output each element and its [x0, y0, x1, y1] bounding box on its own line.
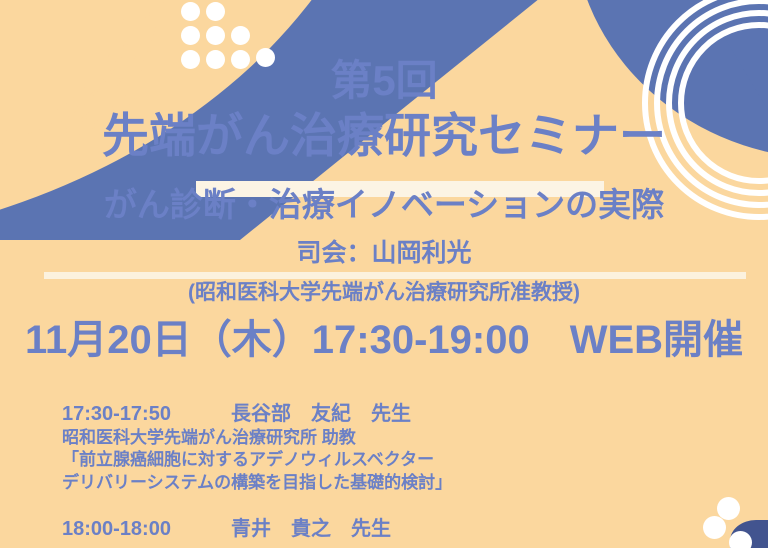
poster-content: 第5回 先端がん治療研究セミナー がん診断・治療イノベーションの実際 司会：山岡… [0, 0, 768, 548]
program-item-header: 17:30-17:50 長谷部 友紀 先生 [62, 402, 722, 427]
divider [44, 272, 746, 279]
moderator-affiliation: (昭和医科大学先端がん治療研究所准教授) [0, 282, 768, 303]
program-item-title-line-1: 「前立腺癌細胞に対するアデノウィルスベクター [62, 449, 722, 472]
program-spacer [62, 499, 722, 517]
moderator-name: 司会：山岡利光 [0, 241, 768, 266]
seminar-poster: 第5回 先端がん治療研究セミナー がん診断・治療イノベーションの実際 司会：山岡… [0, 0, 768, 548]
program-item-title-line-2: デリバリーシステムの構築を目指した基礎的検討」 [62, 472, 722, 495]
program-item: 17:30-17:50 長谷部 友紀 先生 昭和医科大学先端がん治療研究所 助教… [62, 402, 722, 495]
program-list: 17:30-17:50 長谷部 友紀 先生 昭和医科大学先端がん治療研究所 助教… [62, 402, 722, 546]
event-datetime: 11月20日（木）17:30-19:00 WEB開催 [0, 320, 768, 360]
subtitle: がん診断・治療イノベーションの実際 [0, 188, 768, 221]
title-line-1: 第5回 [0, 60, 768, 102]
title-line-2: 先端がん治療研究セミナー [0, 112, 768, 159]
program-item-header: 18:00-18:00 青井 貴之 先生 [62, 517, 722, 542]
program-item: 18:00-18:00 青井 貴之 先生 [62, 517, 722, 542]
program-item-affiliation: 昭和医科大学先端がん治療研究所 助教 [62, 427, 722, 449]
